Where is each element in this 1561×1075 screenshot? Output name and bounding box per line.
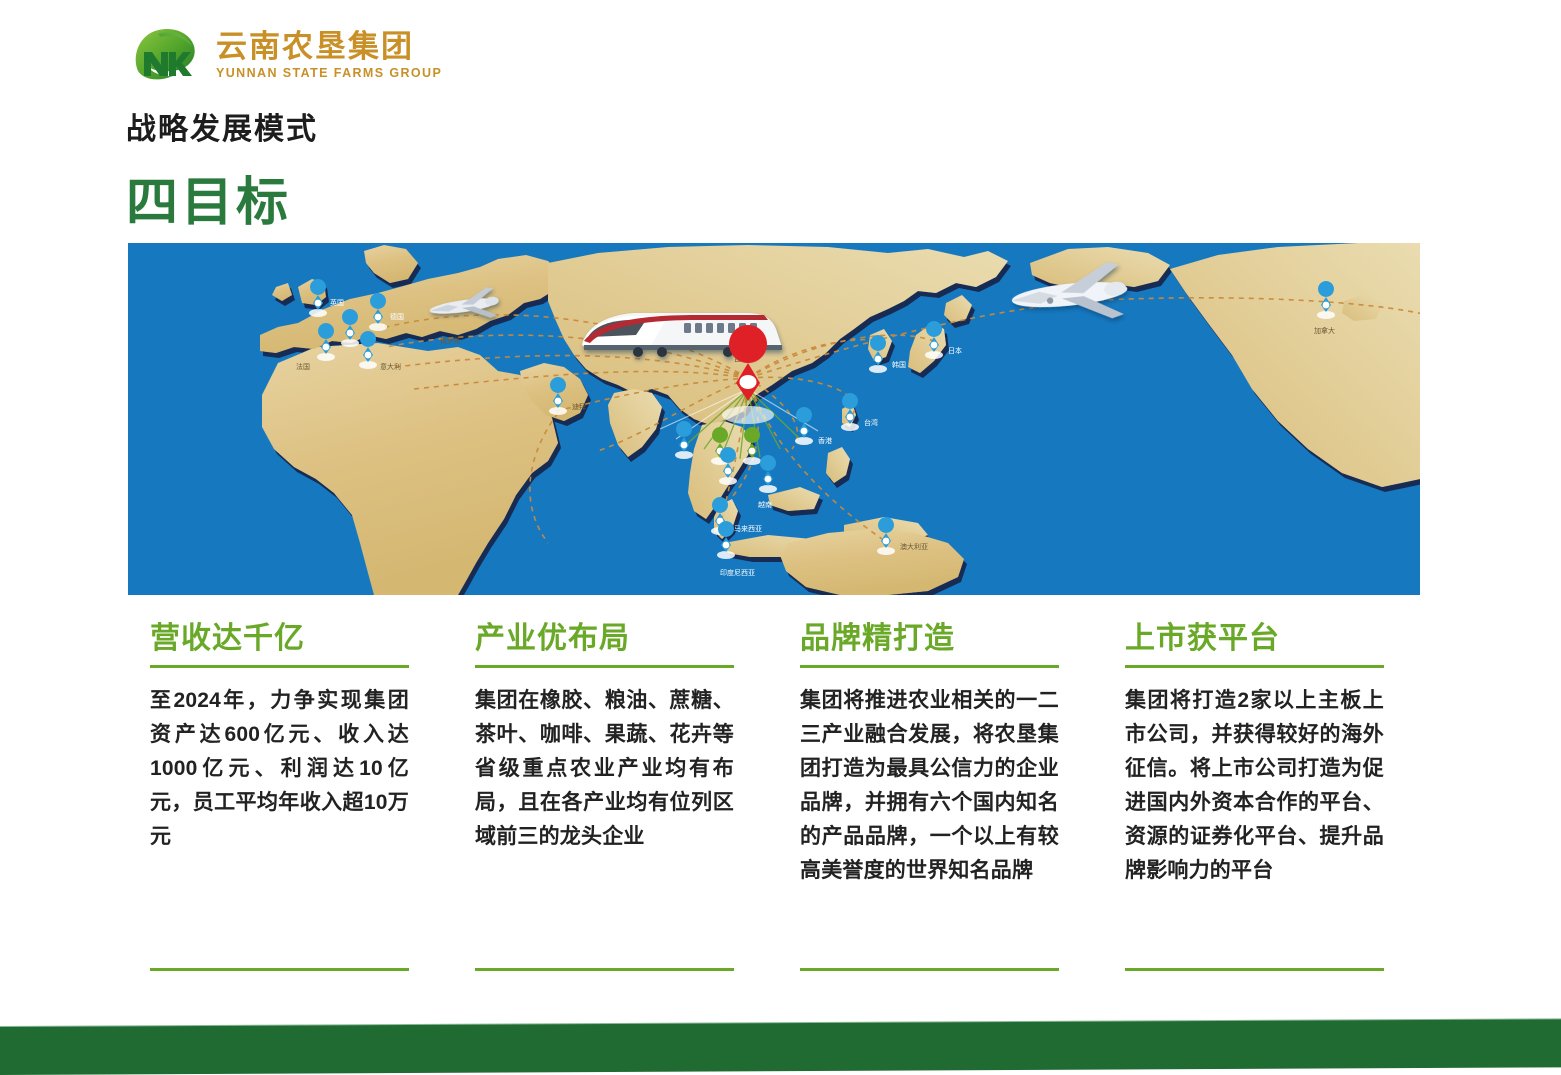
svg-text:加拿大: 加拿大 (1314, 326, 1335, 335)
svg-text:印度尼西亚: 印度尼西亚 (720, 568, 755, 577)
map-pin-indonesia: 印度尼西亚 (720, 568, 755, 577)
goal-foot-rule-2 (475, 968, 734, 971)
svg-text:越南: 越南 (758, 500, 772, 509)
svg-text:德国: 德国 (390, 312, 404, 321)
goal-title-2: 产业优布局 (475, 622, 734, 655)
goal-body-3: 集团将推进农业相关的一二三产业融合发展，将农垦集团打造为最具公信力的企业品牌，并… (800, 684, 1059, 888)
goal-title-rule-1 (150, 665, 409, 668)
goal-foot-rule-3 (800, 968, 1059, 971)
svg-text:迪拜: 迪拜 (572, 402, 586, 411)
svg-text:英国: 英国 (330, 298, 344, 307)
svg-text:意大利: 意大利 (380, 362, 401, 371)
svg-text:澳大利亚: 澳大利亚 (900, 542, 928, 551)
svg-text:香港: 香港 (818, 436, 832, 445)
svg-text:日本: 日本 (948, 346, 962, 355)
goal-foot-rule-1 (150, 968, 409, 971)
goal-title-rule-3 (800, 665, 1059, 668)
goal-title-3: 品牌精打造 (800, 622, 1059, 655)
goal-body-1: 至2024年，力争实现集团资产达600亿元、收入达1000亿元、利润达10亿元，… (150, 684, 409, 854)
goal-column-1: 营收达千亿 至2024年，力争实现集团资产达600亿元、收入达1000亿元、利润… (128, 622, 453, 888)
brand-name-cn: 云南农垦集团 (216, 31, 442, 62)
goal-column-2: 产业优布局 集团在橡胶、粮油、蔗糖、茶叶、咖啡、果蔬、花卉等省级重点农业产业均有… (453, 622, 778, 888)
goal-title-rule-2 (475, 665, 734, 668)
goal-body-4: 集团将打造2家以上主板上市公司，并获得较好的海外征信。将上市公司打造为促进国内外… (1125, 684, 1384, 888)
slide-root: 云南农垦集团 YUNNAN STATE FARMS GROUP 战略发展模式 四… (0, 0, 1561, 1075)
svg-text:马来西亚: 马来西亚 (734, 525, 762, 533)
brand-logo: 云南农垦集团 YUNNAN STATE FARMS GROUP (128, 24, 442, 86)
svg-text:韩国: 韩国 (892, 360, 906, 369)
goal-body-2: 集团在橡胶、粮油、蔗糖、茶叶、咖啡、果蔬、花卉等省级重点农业产业均有布局，且在各… (475, 684, 734, 854)
world-map: 英国 德国 法国 (128, 243, 1420, 595)
svg-text:台湾: 台湾 (864, 418, 878, 427)
leaf-circle-nk-logo-icon (128, 24, 206, 86)
goal-title-4: 上市获平台 (1125, 622, 1384, 655)
svg-text:俄罗斯: 俄罗斯 (440, 336, 461, 345)
brand-name-en: YUNNAN STATE FARMS GROUP (216, 67, 442, 80)
map-pin-russia: 俄罗斯 (440, 336, 461, 345)
goal-title-rule-4 (1125, 665, 1384, 668)
page-kicker: 战略发展模式 (126, 104, 318, 148)
goal-column-4: 上市获平台 集团将打造2家以上主板上市公司，并获得较好的海外征信。将上市公司打造… (1103, 622, 1428, 888)
goal-title-1: 营收达千亿 (150, 622, 409, 655)
svg-text:法国: 法国 (296, 362, 310, 371)
goal-columns: 营收达千亿 至2024年，力争实现集团资产达600亿元、收入达1000亿元、利润… (128, 622, 1428, 888)
brand-logo-text: 云南农垦集团 YUNNAN STATE FARMS GROUP (216, 31, 442, 80)
goal-column-3: 品牌精打造 集团将推进农业相关的一二三产业融合发展，将农垦集团打造为最具公信力的… (778, 622, 1103, 888)
world-map-graphic: 英国 德国 法国 (128, 243, 1420, 595)
footer-bar (0, 1019, 1561, 1075)
page-title: 四目标 (126, 160, 291, 235)
goal-foot-rule-4 (1125, 968, 1384, 971)
